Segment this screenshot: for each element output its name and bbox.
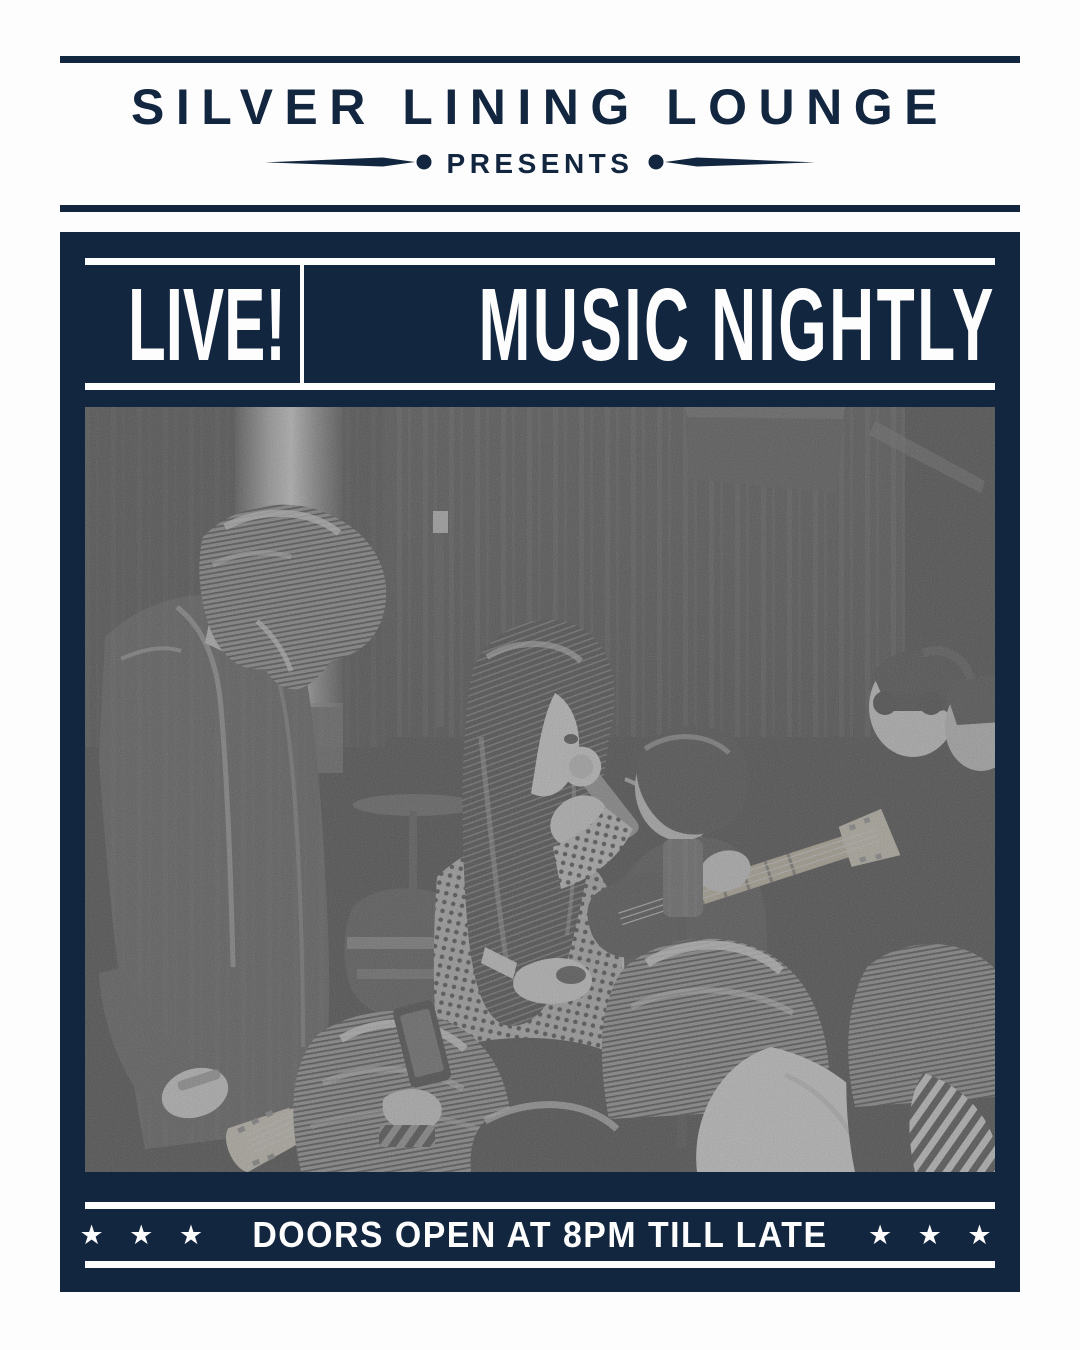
- tapered-dart-left-icon: [263, 151, 433, 178]
- headline-live: LIVE!: [128, 273, 257, 376]
- stars-left-icon: ★ ★ ★: [79, 1222, 212, 1249]
- footer-row: ★ ★ ★ DOORS OPEN AT 8PM TILL LATE ★ ★ ★: [85, 1209, 995, 1261]
- masthead-rule-top: [60, 56, 1020, 63]
- venue-name: SILVER LINING LOUNGE: [60, 82, 1020, 132]
- footer-rule-top: [85, 1202, 995, 1209]
- headline-rule-top: [85, 258, 995, 265]
- stars-right-icon: ★ ★ ★: [868, 1222, 1001, 1249]
- masthead: SILVER LINING LOUNGE PRESENTS: [60, 56, 1020, 212]
- doors-text: DOORS OPEN AT 8PM TILL LATE: [252, 1217, 827, 1253]
- headline-rule-bottom: [85, 383, 995, 390]
- headline-block: LIVE! MUSIC NIGHTLY: [85, 265, 995, 383]
- headline-main: MUSIC NIGHTLY: [471, 273, 996, 376]
- footer-rule-bottom: [85, 1261, 995, 1268]
- masthead-rule-bottom: [60, 205, 1020, 212]
- presents-label: PRESENTS: [447, 150, 634, 178]
- poster-root: SILVER LINING LOUNGE PRESENTS LI: [0, 0, 1080, 1350]
- navy-panel: LIVE! MUSIC NIGHTLY: [60, 232, 1020, 1292]
- tapered-dart-right-icon: [647, 151, 817, 178]
- concert-photo: [85, 407, 995, 1172]
- presents-row: PRESENTS: [60, 150, 1020, 178]
